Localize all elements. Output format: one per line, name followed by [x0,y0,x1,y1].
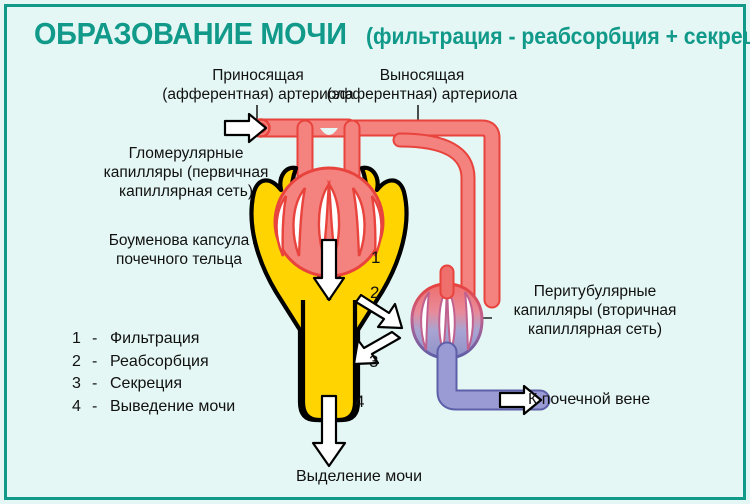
legend-item-2: 2 - Реабсорбция [72,351,235,374]
label-peritubular-capillaries: Перитубулярные капилляры (вторичная капи… [492,282,698,339]
label-glomerular-capillaries: Гломерулярные капилляры (первичная капил… [82,144,290,201]
legend-item-3: 3 - Секреция [72,373,235,396]
marker-secretion: 3 [369,352,378,372]
afferent-inflow-arrow [225,114,266,142]
legend-text-1: Фильтрация [110,328,199,351]
legend-num-3: 3 [72,373,92,396]
legend-num-1: 1 [72,328,92,351]
legend-dash-4: - [92,396,110,419]
label-bowman-capsule: Боуменова капсула почечного тельца [108,231,250,269]
diagram-canvas: ОБРАЗОВАНИЕ МОЧИ(фильтрация - реабсорбци… [0,0,750,504]
legend-text-2: Реабсорбция [110,351,209,374]
legend-dash-2: - [92,351,110,374]
marker-excretion: 4 [355,392,364,412]
marker-reabsorption: 2 [370,283,379,303]
legend-dash-1: - [92,328,110,351]
legend-num-4: 4 [72,396,92,419]
legend-item-1: 1 - Фильтрация [72,328,235,351]
legend: 1 - Фильтрация 2 - Реабсорбция 3 - Секре… [72,328,235,418]
label-efferent-arteriole: Выносящая (эфферентная) артериола [316,66,528,104]
label-urine-excretion: Выделение мочи [296,468,422,486]
legend-num-2: 2 [72,351,92,374]
legend-text-3: Секреция [110,373,182,396]
label-to-renal-vein: К почечной вене [528,391,650,409]
marker-filtration: 1 [371,248,380,268]
legend-text-4: Выведение мочи [110,396,235,419]
legend-item-4: 4 - Выведение мочи [72,396,235,419]
legend-dash-3: - [92,373,110,396]
